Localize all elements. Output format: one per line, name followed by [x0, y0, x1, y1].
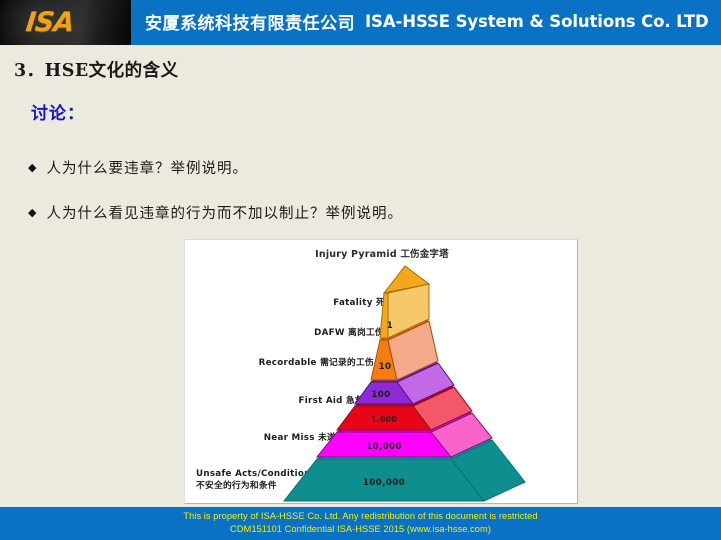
pyramid-count-1: 1 [387, 321, 393, 331]
pyramid-count-5: 10,000 [366, 442, 402, 452]
footer-bar: This is property of ISA-HSSE Co. Ltd. An… [0, 507, 721, 540]
pyramid-count-4: 1,000 [371, 415, 397, 424]
app-header: ISA 安厦系统科技有限责任公司ISA-HSSE System & Soluti… [0, 0, 721, 45]
diamond-bullet-icon: ◆ [28, 206, 37, 219]
list-item-label: 人为什么看见违章的行为而不加以制止？举例说明。 [46, 206, 403, 222]
header-title-bar: 安厦系统科技有限责任公司ISA-HSSE System & Solutions … [131, 0, 721, 45]
pyramid-count-6: 100,000 [363, 478, 405, 488]
discussion-heading: 讨论： [31, 99, 85, 124]
pyramid-count-3: 100 [371, 390, 390, 400]
header-title-group: 安厦系统科技有限责任公司ISA-HSSE System & Solutions … [145, 9, 709, 34]
list-item: ◆人为什么要违章？举例说明。 [28, 157, 248, 178]
pyramid-graphic: 100,000 10,000 1,000 100 10 1 [185, 240, 578, 504]
page-title: 3．HSE文化的含义 [14, 57, 179, 82]
footer-line-1: This is property of ISA-HSSE Co. Ltd. An… [0, 511, 721, 521]
footer-line-2: CDM151101 Confidential ISA-HSSE 2015 (ww… [0, 524, 721, 534]
isa-logo-icon: ISA [24, 7, 75, 38]
header-company-cn: 安厦系统科技有限责任公司 [145, 14, 355, 34]
header-company-en: ISA-HSSE System & Solutions Co. LTD [365, 12, 709, 31]
pyramid-slab-1-front [380, 293, 388, 338]
injury-pyramid-figure: Injury Pyramid 工伤金字塔 Fatality 死亡 DAFW 离岗… [184, 239, 578, 504]
list-item: ◆人为什么看见违章的行为而不加以制止？举例说明。 [28, 202, 403, 223]
list-item-label: 人为什么要违章？举例说明。 [46, 161, 248, 177]
diamond-bullet-icon: ◆ [28, 161, 37, 174]
pyramid-count-2: 10 [379, 362, 392, 372]
logo-zone: ISA [0, 0, 131, 45]
